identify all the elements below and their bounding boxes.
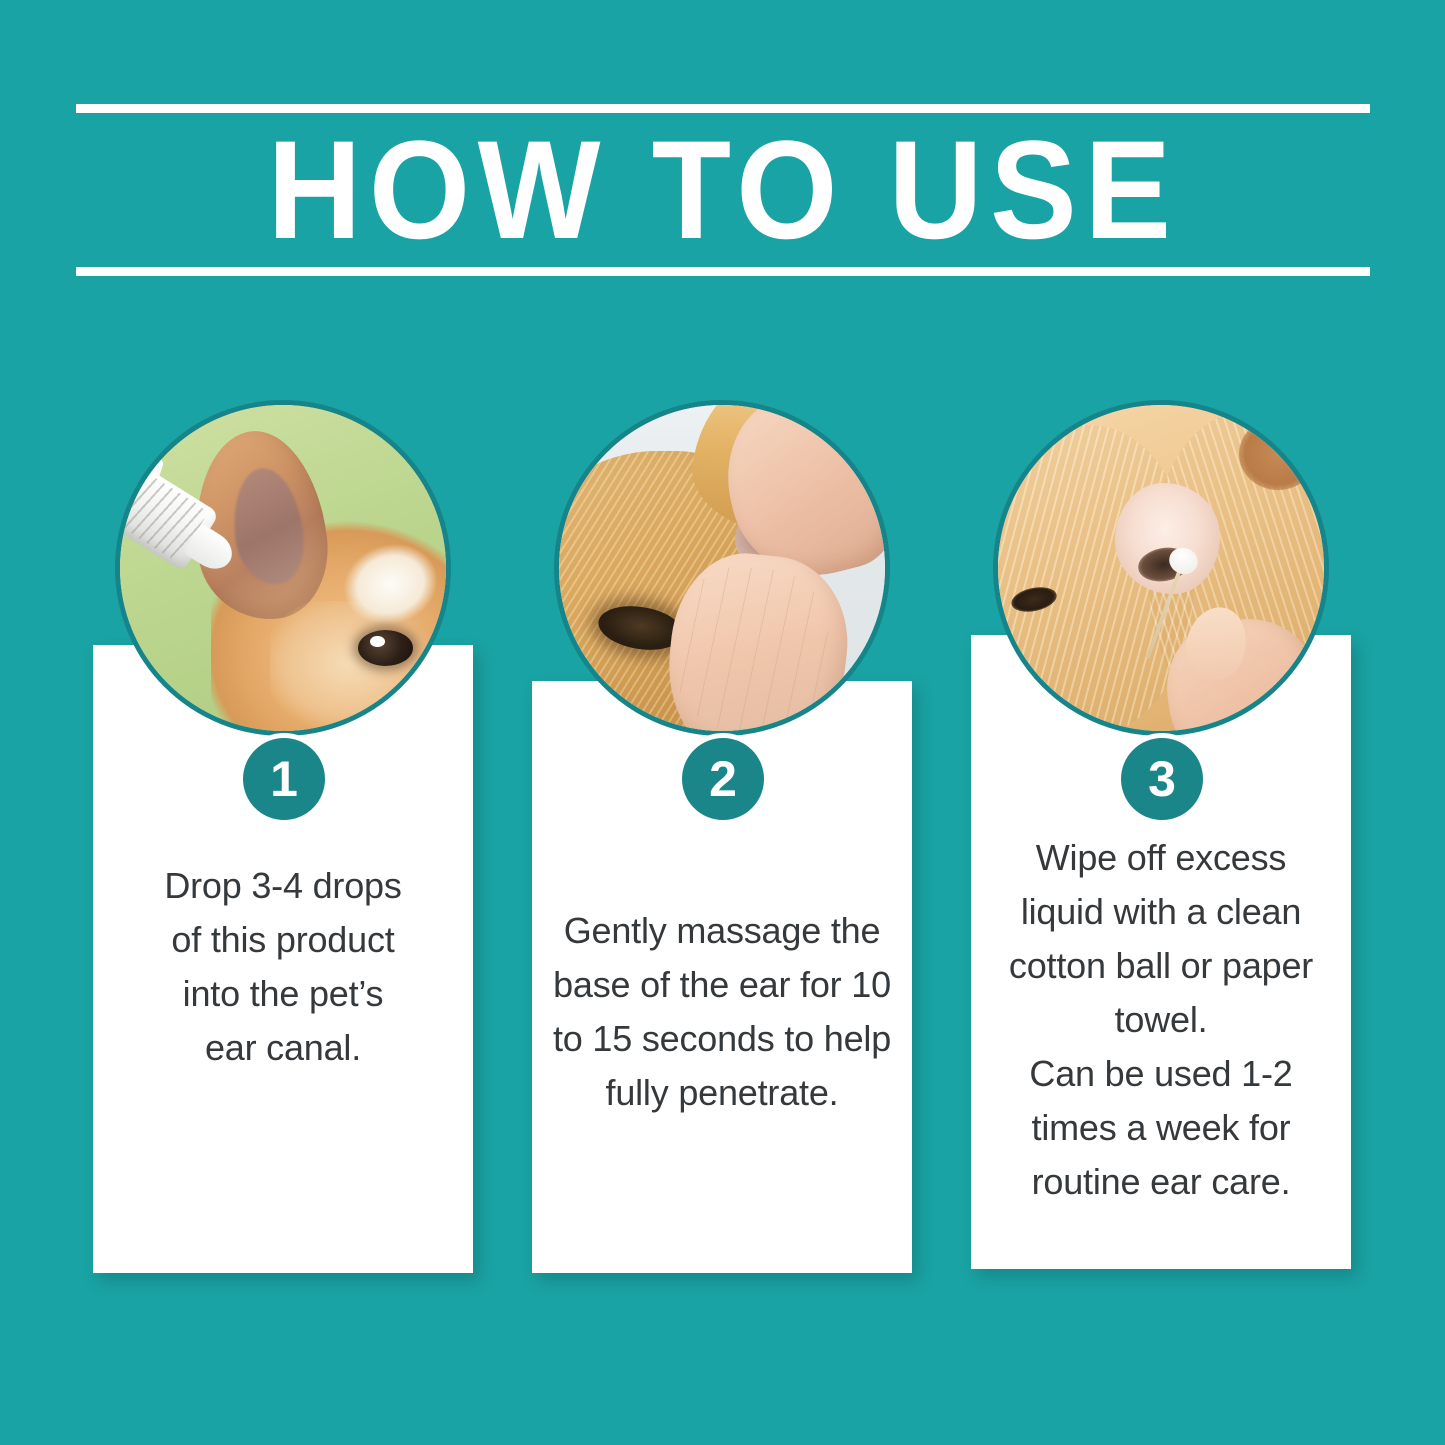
caption-line: Drop 3-4 drops <box>105 860 461 912</box>
caption-line: liquid with a clean <box>983 886 1339 938</box>
hands-massaging-dog-ear-illustration <box>559 405 885 731</box>
caption-line: routine ear care. <box>983 1156 1339 1208</box>
step-1-caption: Drop 3-4 drops of this product into the … <box>105 860 461 1074</box>
dog-ear-drops-illustration <box>120 405 446 731</box>
caption-line: base of the ear for 10 <box>544 959 900 1011</box>
caption-line: to 15 seconds to help <box>544 1013 900 1065</box>
step-1-photo <box>115 400 451 736</box>
caption-line: into the pet’s <box>105 968 461 1020</box>
caption-line: towel. <box>983 994 1339 1046</box>
caption-line: fully penetrate. <box>544 1067 900 1119</box>
caption-line: ear canal. <box>105 1022 461 1074</box>
caption-line: Gently massage the <box>544 905 900 957</box>
step-3-photo <box>993 400 1329 736</box>
caption-line: Can be used 1-2 <box>983 1048 1339 1100</box>
steps-container: 1 Drop 3-4 drops of this product into th… <box>0 0 1445 1445</box>
caption-line: times a week for <box>983 1102 1339 1154</box>
how-to-use-infographic: HOW TO USE <box>0 0 1445 1445</box>
step-2-caption: Gently massage the base of the ear for 1… <box>544 905 900 1119</box>
cotton-swab-cleaning-dog-ear-illustration <box>998 405 1324 731</box>
caption-line: of this product <box>105 914 461 966</box>
step-3-caption: Wipe off excess liquid with a clean cott… <box>983 832 1339 1208</box>
step-number-badge-2: 2 <box>677 733 769 825</box>
step-2-photo <box>554 400 890 736</box>
step-number-badge-1: 1 <box>238 733 330 825</box>
step-number-badge-3: 3 <box>1116 733 1208 825</box>
caption-line: cotton ball or paper <box>983 940 1339 992</box>
caption-line: Wipe off excess <box>983 832 1339 884</box>
